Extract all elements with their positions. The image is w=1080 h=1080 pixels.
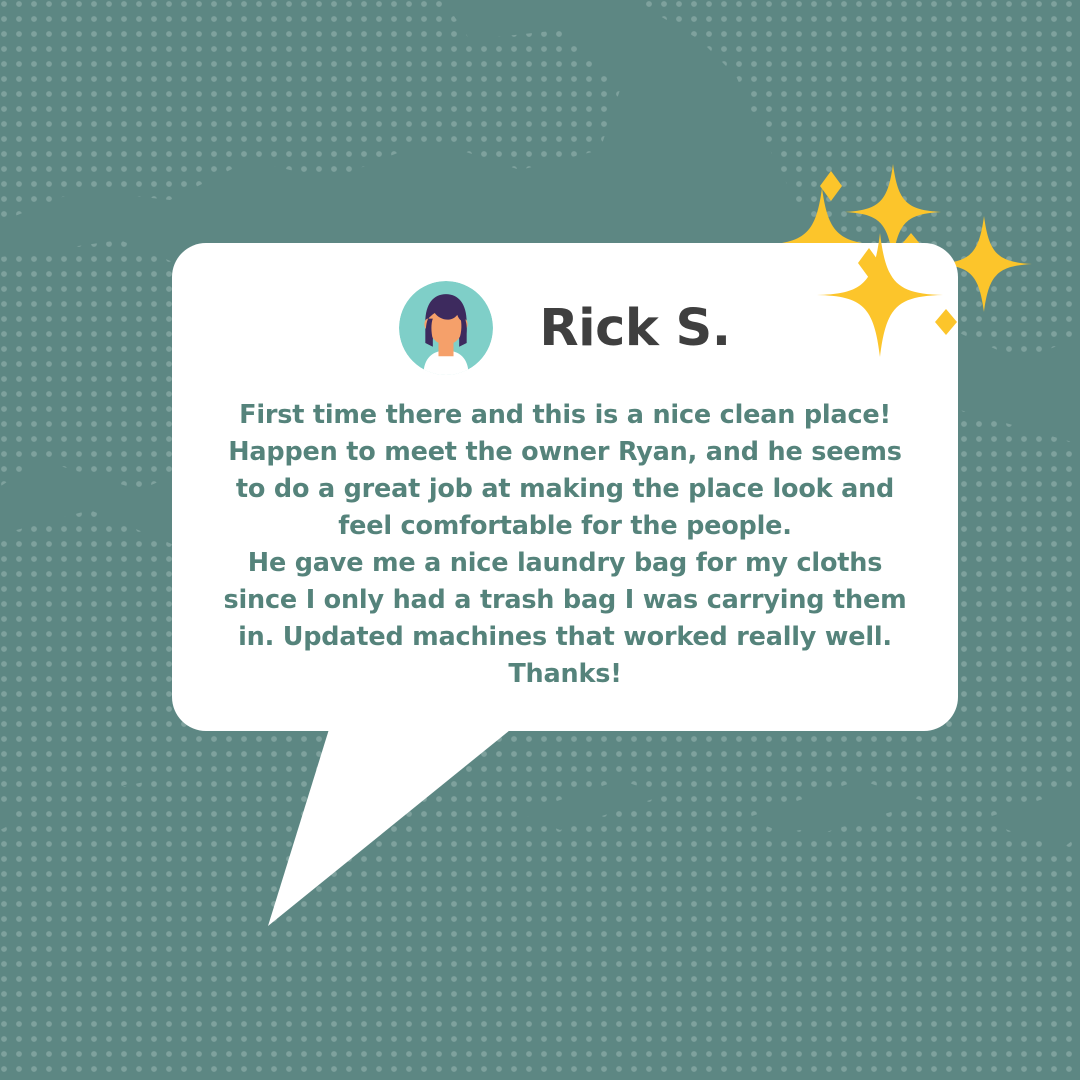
review-text: First time there and this is a nice clea… xyxy=(198,397,932,693)
review-line: Happen to meet the owner Ryan, and he se… xyxy=(198,434,932,471)
reviewer-name: Rick S. xyxy=(539,303,730,354)
testimonial-graphic: Rick S. First time there and this is a n… xyxy=(0,0,1080,1080)
review-line: in. Updated machines that worked really … xyxy=(198,619,932,656)
review-line: to do a great job at making the place lo… xyxy=(198,471,932,508)
review-line: He gave me a nice laundry bag for my clo… xyxy=(198,545,932,582)
person-avatar-icon xyxy=(399,281,493,375)
review-line: Thanks! xyxy=(198,656,932,693)
testimonial-card-content: Rick S. First time there and this is a n… xyxy=(172,243,958,731)
review-line: feel comfortable for the people. xyxy=(198,508,932,545)
review-line: since I only had a trash bag I was carry… xyxy=(198,582,932,619)
reviewer-header: Rick S. xyxy=(198,281,932,375)
avatar xyxy=(399,281,493,375)
review-line: First time there and this is a nice clea… xyxy=(198,397,932,434)
